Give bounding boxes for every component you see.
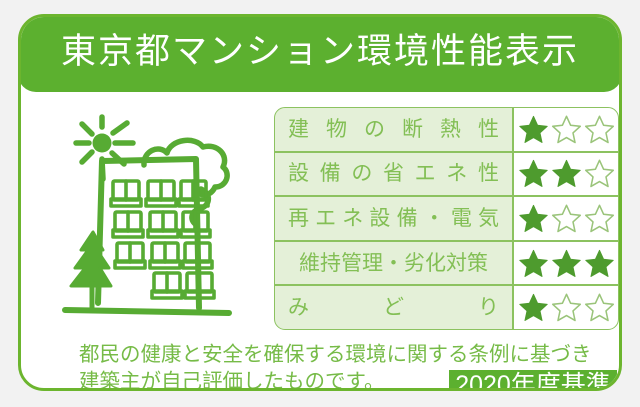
year-standard-badge: 2020年度基準 (449, 370, 617, 391)
rating-stars-1 (513, 107, 619, 152)
rating-stars-4 (513, 241, 619, 286)
rating-label-text: 維持管理・劣化対策 (281, 253, 506, 274)
apartment-building-icon (98, 159, 214, 308)
environmental-performance-label-card: 東京都マンション環境性能表示 (18, 14, 622, 391)
rating-row: 維持管理・劣化対策 (274, 241, 619, 286)
star-filled-icon (518, 114, 549, 145)
eco-apartment-illustration (51, 103, 271, 333)
star-empty-icon (551, 114, 582, 145)
star-empty-icon (584, 292, 615, 323)
rating-label-2: 設備の省エネ性 (274, 152, 513, 197)
rating-stars-3 (513, 196, 619, 241)
star-filled-icon (518, 158, 549, 189)
rating-label-text: 建物の断熱性 (281, 119, 506, 140)
star-filled-icon (551, 248, 582, 279)
star-empty-icon (584, 114, 615, 145)
tree-icon (71, 232, 111, 310)
rating-label-3: 再エネ設備・電気 (274, 196, 513, 241)
title-bar: 東京都マンション環境性能表示 (18, 14, 622, 92)
rating-row: みどり (274, 285, 619, 330)
rating-row: 設備の省エネ性 (274, 152, 619, 197)
rating-row: 建物の断熱性 (274, 107, 619, 152)
rating-label-text: みどり (281, 297, 506, 318)
star-empty-icon (551, 292, 582, 323)
star-filled-icon (518, 203, 549, 234)
rating-row: 再エネ設備・電気 (274, 196, 619, 241)
rating-label-text: 設備の省エネ性 (281, 163, 506, 184)
rating-table: 建物の断熱性設備の省エネ性再エネ設備・電気維持管理・劣化対策みどり (274, 107, 619, 330)
page-title: 東京都マンション環境性能表示 (61, 34, 579, 72)
rating-label-1: 建物の断熱性 (274, 107, 513, 152)
star-filled-icon (584, 248, 615, 279)
rating-label-5: みどり (274, 285, 513, 330)
ground-line (65, 310, 229, 313)
rating-stars-5 (513, 285, 619, 330)
star-empty-icon (584, 203, 615, 234)
star-empty-icon (584, 158, 615, 189)
star-filled-icon (518, 248, 549, 279)
rating-stars-2 (513, 152, 619, 197)
footer: 都民の健康と安全を確保する環境に関する条例に基づき 建築主が自己評価したものです… (79, 341, 609, 391)
star-filled-icon (551, 158, 582, 189)
star-filled-icon (518, 292, 549, 323)
rating-label-4: 維持管理・劣化対策 (274, 241, 513, 286)
star-empty-icon (551, 203, 582, 234)
rating-label-text: 再エネ設備・電気 (281, 208, 506, 229)
